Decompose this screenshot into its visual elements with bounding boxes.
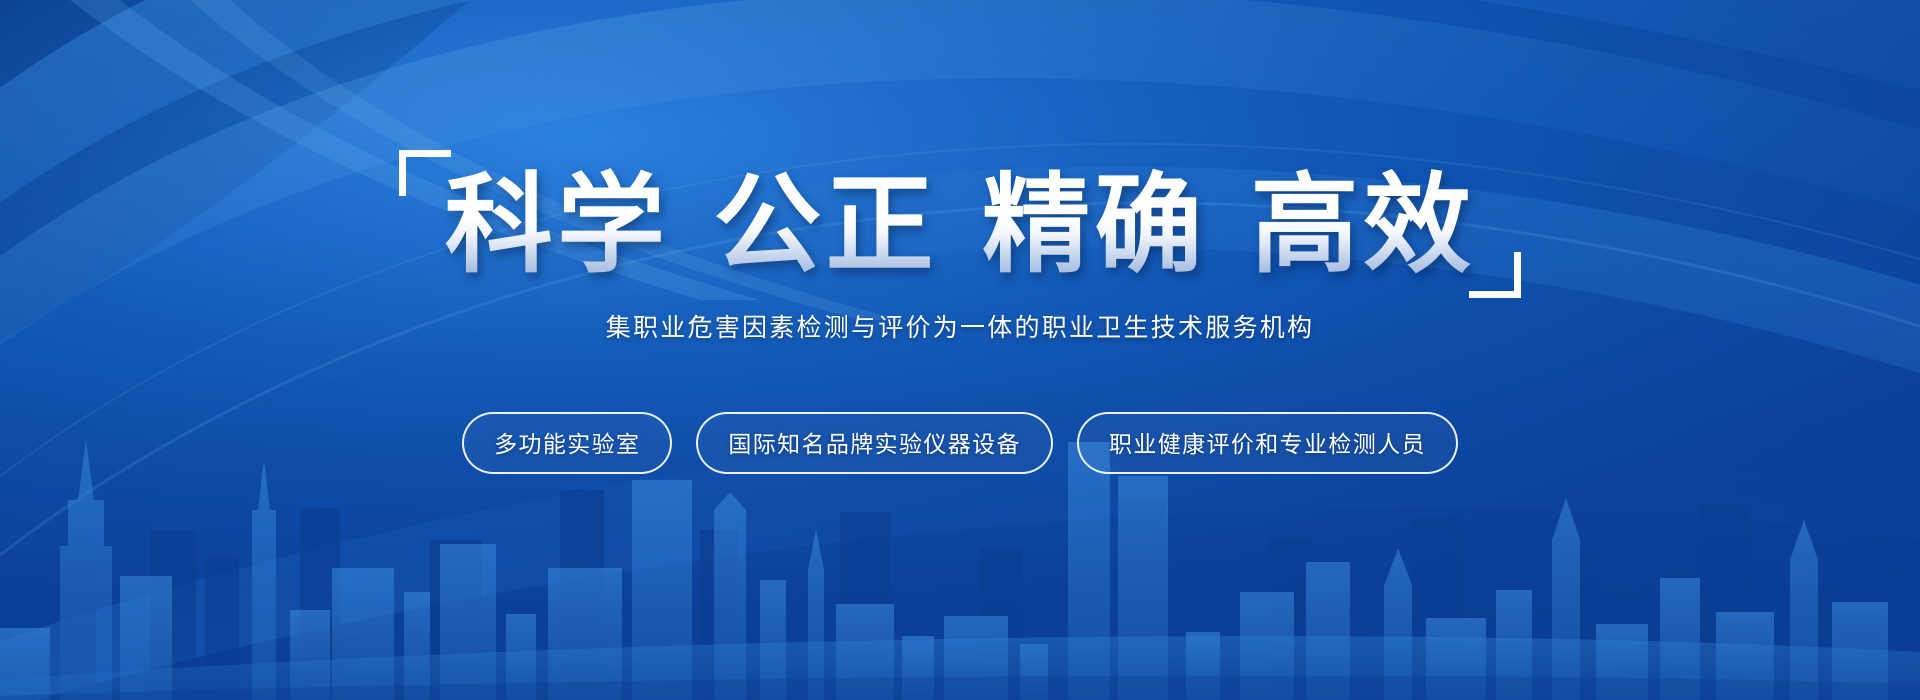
feature-tag-professional-staff[interactable]: 职业健康评价和专业检测人员 [1077, 412, 1458, 474]
headline-word-2: 公正 [713, 164, 938, 285]
headline-block: 科学公正精确高效 [399, 168, 1522, 282]
corner-bracket-bottom-right-icon [1469, 252, 1521, 298]
banner-content: 科学公正精确高效 集职业危害因素检测与评价为一体的职业卫生技术服务机构 多功能实… [0, 0, 1920, 700]
feature-tag-list: 多功能实验室 国际知名品牌实验仪器设备 职业健康评价和专业检测人员 [462, 412, 1458, 474]
page-title: 科学公正精确高效 [445, 168, 1476, 282]
headline-word-1: 科学 [445, 164, 670, 285]
headline-word-4: 高效 [1251, 164, 1476, 285]
headline-word-3: 精确 [982, 164, 1207, 285]
corner-bracket-top-left-icon [399, 150, 451, 196]
hero-banner: 科学公正精确高效 集职业危害因素检测与评价为一体的职业卫生技术服务机构 多功能实… [0, 0, 1920, 700]
feature-tag-international-equipment[interactable]: 国际知名品牌实验仪器设备 [696, 412, 1053, 474]
banner-subtitle: 集职业危害因素检测与评价为一体的职业卫生技术服务机构 [606, 308, 1315, 344]
feature-tag-multifunction-lab[interactable]: 多功能实验室 [462, 412, 672, 474]
